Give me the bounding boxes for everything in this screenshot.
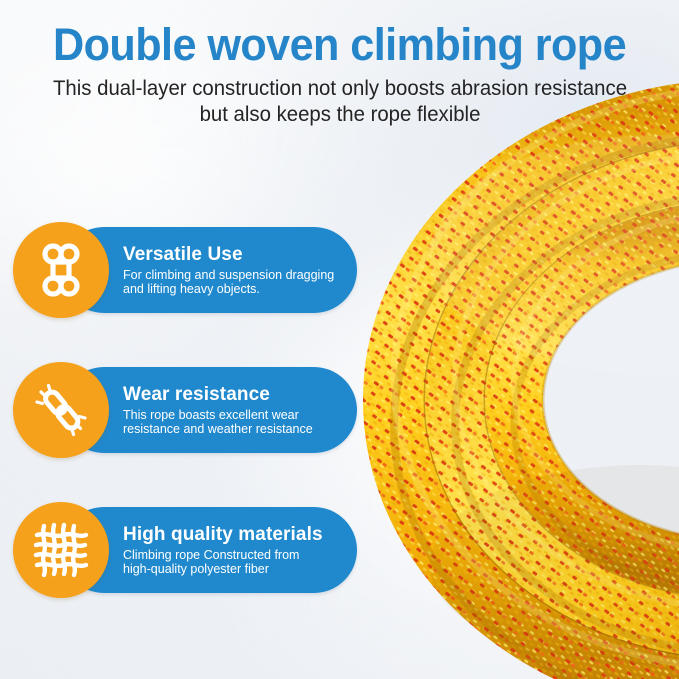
- page-subtitle: This dual-layer construction not only bo…: [29, 76, 650, 128]
- badge-description-line: high-quality polyester fiber: [123, 562, 361, 577]
- badge-text-block: Wear resistance This rope boasts excelle…: [123, 367, 361, 453]
- badge-description-line: This rope boasts excellent wear: [123, 408, 361, 423]
- badge-icon-circle: [13, 222, 109, 318]
- feature-badge-versatile-use[interactable]: Versatile Use For climbing and suspensio…: [13, 222, 357, 318]
- badge-description: This rope boasts excellent wear resistan…: [123, 408, 361, 437]
- header: Double woven climbing rope This dual-lay…: [0, 0, 679, 128]
- badge-description: For climbing and suspension dragging and…: [123, 268, 361, 297]
- badge-description-line: resistance and weather resistance: [123, 422, 361, 437]
- badge-description-line: and lifting heavy objects.: [123, 282, 361, 297]
- badge-title: High quality materials: [123, 524, 361, 546]
- badge-icon-circle: [13, 502, 109, 598]
- feature-badge-high-quality-materials[interactable]: High quality materials Climbing rope Con…: [13, 502, 357, 598]
- badge-title: Versatile Use: [123, 244, 361, 266]
- infographic-canvas: Double woven climbing rope This dual-lay…: [0, 0, 679, 679]
- page-title: Double woven climbing rope: [14, 0, 666, 70]
- command-loop-icon: [32, 241, 90, 299]
- woven-mesh-icon: [30, 519, 92, 581]
- badge-description: Climbing rope Constructed from high-qual…: [123, 548, 361, 577]
- badge-text-block: High quality materials Climbing rope Con…: [123, 507, 361, 593]
- badge-description-line: Climbing rope Constructed from: [123, 548, 361, 563]
- badge-description-line: For climbing and suspension dragging: [123, 268, 361, 283]
- badge-text-block: Versatile Use For climbing and suspensio…: [123, 227, 361, 313]
- subtitle-line: This dual-layer construction not only bo…: [29, 76, 650, 102]
- feature-badge-wear-resistance[interactable]: Wear resistance This rope boasts excelle…: [13, 362, 357, 458]
- badge-icon-circle: [13, 362, 109, 458]
- subtitle-line: but also keeps the rope flexible: [29, 102, 650, 128]
- badge-title: Wear resistance: [123, 384, 361, 406]
- chain-link-sparkle-icon: [31, 380, 91, 440]
